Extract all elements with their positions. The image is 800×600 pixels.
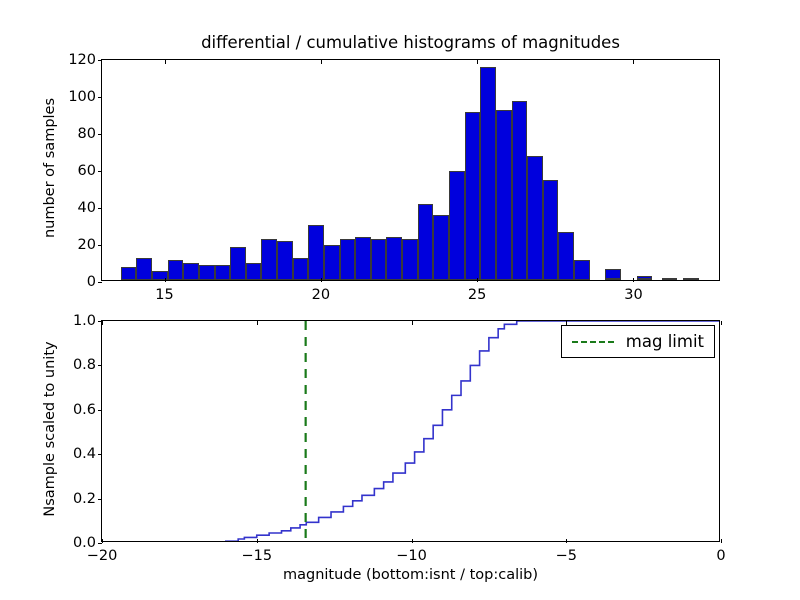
histogram-bar <box>121 267 137 280</box>
histogram-bar <box>246 263 262 280</box>
histogram-bar <box>496 110 512 280</box>
histogram-plot-area <box>102 60 719 280</box>
histogram-bar <box>230 247 246 280</box>
x-tick-mark <box>321 278 322 282</box>
histogram-bar <box>433 215 449 280</box>
y-tick-mark <box>98 454 102 455</box>
histogram-bar <box>512 101 528 280</box>
x-tick-mark-top <box>721 321 722 325</box>
y-tick-label: 60 <box>78 163 96 179</box>
histogram-bar <box>662 278 678 280</box>
mag-limit-legend-swatch <box>572 341 614 343</box>
cumulative-x-axis-label: magnitude (bottom:isnt / top:calib) <box>101 567 720 583</box>
x-tick-label: 0 <box>716 548 725 564</box>
x-tick-label: −5 <box>556 548 577 564</box>
legend[interactable]: mag limit <box>561 325 715 358</box>
x-tick-mark <box>477 278 478 282</box>
x-tick-label: 25 <box>468 287 486 303</box>
y-tick-label: 0.4 <box>73 446 96 462</box>
histogram-bar <box>261 239 277 280</box>
x-tick-mark <box>566 539 567 543</box>
histogram-bar <box>449 171 465 280</box>
histogram-bar <box>527 156 543 280</box>
x-tick-mark-top <box>412 321 413 325</box>
x-tick-mark-top <box>633 60 634 64</box>
y-tick-mark <box>98 245 102 246</box>
histogram-bar <box>308 225 324 281</box>
y-tick-mark <box>98 543 102 544</box>
y-tick-mark <box>98 60 102 61</box>
y-tick-mark <box>98 499 102 500</box>
histogram-bar <box>215 265 231 280</box>
y-tick-label: 40 <box>78 200 96 216</box>
x-tick-mark <box>412 539 413 543</box>
cumulative-y-axis-label: Nsample scaled to unity <box>42 319 58 539</box>
x-tick-mark <box>721 539 722 543</box>
histogram-bar <box>355 237 371 280</box>
x-tick-mark <box>257 539 258 543</box>
y-tick-mark <box>98 171 102 172</box>
x-tick-mark-top <box>257 321 258 325</box>
x-tick-label: 30 <box>624 287 642 303</box>
histogram-bar <box>183 263 199 280</box>
y-tick-mark <box>98 134 102 135</box>
legend-label-mag-limit: mag limit <box>626 332 704 351</box>
x-tick-mark-top <box>321 60 322 64</box>
y-tick-label: 100 <box>68 89 96 105</box>
y-tick-mark <box>98 282 102 283</box>
histogram-bar <box>543 180 559 280</box>
y-tick-mark <box>98 208 102 209</box>
x-tick-mark-top <box>102 321 103 325</box>
x-tick-label: −15 <box>241 548 272 564</box>
histogram-bar <box>386 237 402 280</box>
x-tick-mark <box>165 278 166 282</box>
histogram-bar <box>637 278 653 280</box>
y-tick-label: 80 <box>78 126 96 142</box>
x-tick-label: −20 <box>87 548 118 564</box>
y-tick-label: 0.6 <box>73 402 96 418</box>
x-tick-label: 15 <box>155 287 173 303</box>
y-tick-mark <box>98 410 102 411</box>
y-tick-label: 1.0 <box>73 313 96 329</box>
figure: differential / cumulative histograms of … <box>0 0 800 600</box>
histogram-axes: 020406080100120 15202530 <box>101 59 720 281</box>
y-tick-label: 0 <box>87 274 96 290</box>
histogram-bar <box>574 260 590 280</box>
x-tick-mark-top <box>165 60 166 64</box>
y-tick-mark <box>98 97 102 98</box>
histogram-bar <box>199 265 215 280</box>
x-tick-label: 20 <box>312 287 330 303</box>
x-tick-mark <box>102 539 103 543</box>
x-tick-label: −10 <box>396 548 427 564</box>
y-tick-label: 120 <box>68 52 96 68</box>
y-tick-label: 0.8 <box>73 357 96 373</box>
x-tick-mark-top <box>477 60 478 64</box>
histogram-bar <box>324 245 340 280</box>
histogram-y-axis-label: number of samples <box>42 58 58 278</box>
histogram-bar <box>277 241 293 280</box>
histogram-bar <box>371 239 387 280</box>
histogram-bar <box>136 258 152 280</box>
histogram-bar <box>465 112 481 280</box>
histogram-bar <box>558 232 574 280</box>
histogram-bar <box>480 67 496 280</box>
histogram-bar <box>402 239 418 280</box>
chart-title: differential / cumulative histograms of … <box>101 33 720 52</box>
y-tick-label: 0.2 <box>73 491 96 507</box>
histogram-bar <box>605 278 621 280</box>
cumulative-axes: 0.00.20.40.60.81.0 −20−15−10−50 mag limi… <box>101 320 720 542</box>
histogram-bar <box>683 278 699 280</box>
histogram-bar <box>340 239 356 280</box>
histogram-bar <box>168 260 184 280</box>
histogram-bar <box>293 258 309 280</box>
histogram-bar <box>418 204 434 280</box>
y-tick-label: 20 <box>78 237 96 253</box>
y-tick-mark <box>98 365 102 366</box>
x-tick-mark <box>633 278 634 282</box>
